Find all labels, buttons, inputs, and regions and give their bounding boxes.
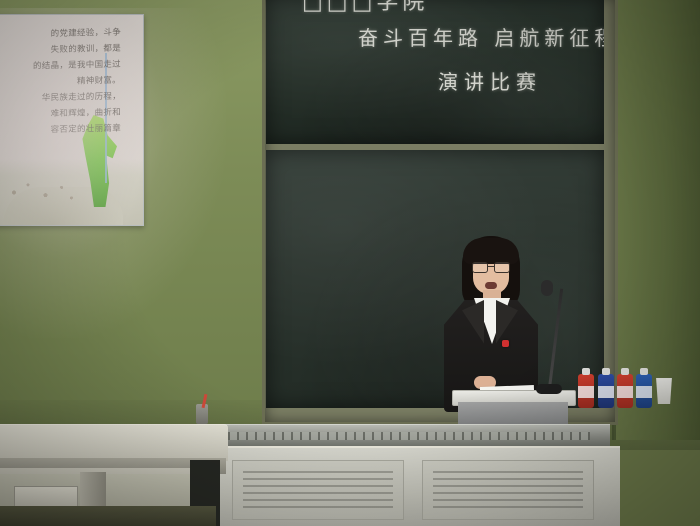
paper-cup	[655, 378, 673, 404]
bottle-label	[617, 386, 633, 398]
mouth	[485, 282, 497, 289]
bottle-blue-1	[598, 374, 614, 408]
glasses-lens-right	[494, 262, 510, 273]
blackboard-panel-upper: □□□学院 奋斗百年路 启航新征程 演讲比赛	[266, 0, 604, 144]
cabinet-panel-right	[422, 460, 594, 520]
bottle-label	[636, 386, 652, 398]
bottle-red-2	[617, 374, 633, 408]
party-badge	[502, 340, 509, 347]
chalk-text-line-3: 演讲比赛	[438, 66, 542, 95]
microphone-base	[536, 384, 562, 394]
chalk-text-line-2: 奋斗百年路 启航新征程	[358, 22, 604, 51]
floor	[0, 506, 216, 526]
microphone-head	[541, 280, 553, 296]
podium-cabinet	[216, 446, 620, 526]
bottle-blue-2	[636, 374, 652, 408]
cabinet-vents-right	[433, 471, 583, 509]
side-table-left	[0, 424, 228, 461]
glasses-icon	[472, 262, 510, 271]
desk-upper-runner	[190, 424, 610, 447]
bottle-red-1	[578, 374, 594, 408]
slide-text: 的党建经验，斗争 失败的教训，都是 的结晶，是我中国走过 精神财富。 华民族走过…	[0, 24, 121, 139]
slide-texture-dots	[7, 177, 77, 203]
cabinet-panel-left	[232, 460, 404, 520]
classroom-photo: 的党建经验，斗争 失败的教训，都是 的结晶，是我中国走过 精神财富。 华民族走过…	[0, 0, 700, 526]
bottle-label	[598, 386, 614, 398]
desk-grill-texture	[210, 432, 590, 440]
projection-screen: 的党建经验，斗争 失败的教训，都是 的结晶，是我中国走过 精神财富。 华民族走过…	[0, 14, 144, 226]
projection-screen-surface: 的党建经验，斗争 失败的教训，都是 的结晶，是我中国走过 精神财富。 华民族走过…	[0, 15, 143, 225]
bottle-label	[578, 386, 594, 398]
hair-front	[463, 238, 519, 264]
glasses-lens-left	[472, 262, 488, 273]
cabinet-vents-left	[243, 471, 393, 509]
glasses-bridge	[487, 266, 495, 267]
chalk-text-line-1: □□□学院	[302, 0, 428, 16]
